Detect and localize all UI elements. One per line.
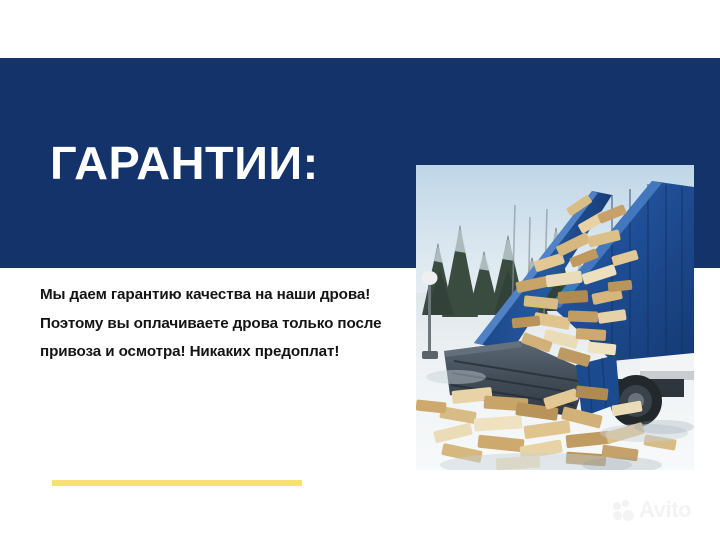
firewood-truck-photo [416,165,694,470]
avito-dots-icon [613,500,636,521]
slide-canvas: ГАРАНТИИ: Мы даем гарантию качества на н… [0,0,720,540]
firewood-truck-illustration [416,165,694,470]
accent-divider-bar [52,480,302,486]
page-title: ГАРАНТИИ: [50,138,319,188]
body-paragraph: Мы даем гарантию качества на наши дрова!… [40,281,405,367]
avito-watermark: Avito [613,496,705,524]
avito-wordmark: Avito [639,499,691,521]
